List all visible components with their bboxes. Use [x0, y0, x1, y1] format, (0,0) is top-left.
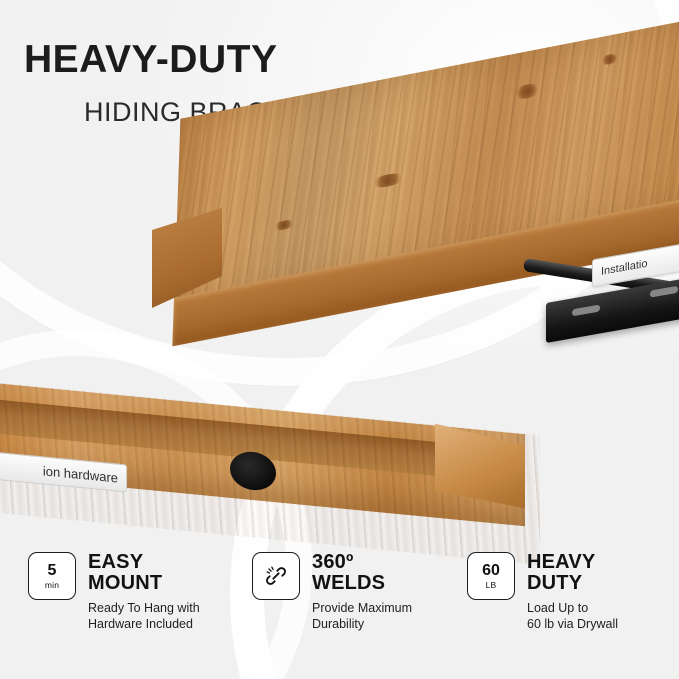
badge-60-lb: 60 LB [467, 552, 515, 600]
feature-title-line1: HEAVY [527, 552, 618, 573]
feature-360-welds: 360º WELDS Provide Maximum Durability [252, 552, 467, 632]
feature-desc-line2: 60 lb via Drywall [527, 616, 618, 632]
top-shelf-photo: Installatio [152, 120, 679, 370]
feature-heavy-duty: 60 LB HEAVY DUTY Load Up to 60 lb via Dr… [467, 552, 657, 632]
badge-value: 60 [482, 563, 500, 579]
badge-value: 5 [48, 563, 57, 579]
feature-title-line2: MOUNT [88, 573, 200, 594]
badge-5-min: 5 min [28, 552, 76, 600]
product-infographic: HEAVY-DUTY HIDING BRACKET/ACCESSORY Inst… [0, 0, 679, 679]
feature-text: EASY MOUNT Ready To Hang with Hardware I… [88, 552, 200, 632]
headline-title: HEAVY-DUTY [24, 40, 277, 79]
feature-easy-mount: 5 min EASY MOUNT Ready To Hang with Hard… [28, 552, 252, 632]
feature-desc-line2: Hardware Included [88, 616, 200, 632]
weld-link-icon [263, 563, 289, 589]
bottom-shelf-photo: ion hardware [0, 408, 540, 538]
feature-row: 5 min EASY MOUNT Ready To Hang with Hard… [28, 552, 658, 632]
bracket-screw-slot [650, 286, 678, 298]
feature-text: HEAVY DUTY Load Up to 60 lb via Drywall [527, 552, 618, 632]
badge-unit: min [45, 581, 59, 590]
feature-title-line1: 360º [312, 552, 412, 573]
badge-weld-icon [252, 552, 300, 600]
badge-unit: LB [486, 581, 497, 590]
feature-title-line2: DUTY [527, 573, 618, 594]
feature-text: 360º WELDS Provide Maximum Durability [312, 552, 412, 632]
feature-desc-line1: Ready To Hang with [88, 600, 200, 616]
feature-desc-line1: Load Up to [527, 600, 618, 616]
bracket-screw-slot [572, 304, 600, 316]
feature-title-line2: WELDS [312, 573, 412, 594]
feature-desc-line2: Durability [312, 616, 412, 632]
feature-desc-line1: Provide Maximum [312, 600, 412, 616]
feature-title-line1: EASY [88, 552, 200, 573]
